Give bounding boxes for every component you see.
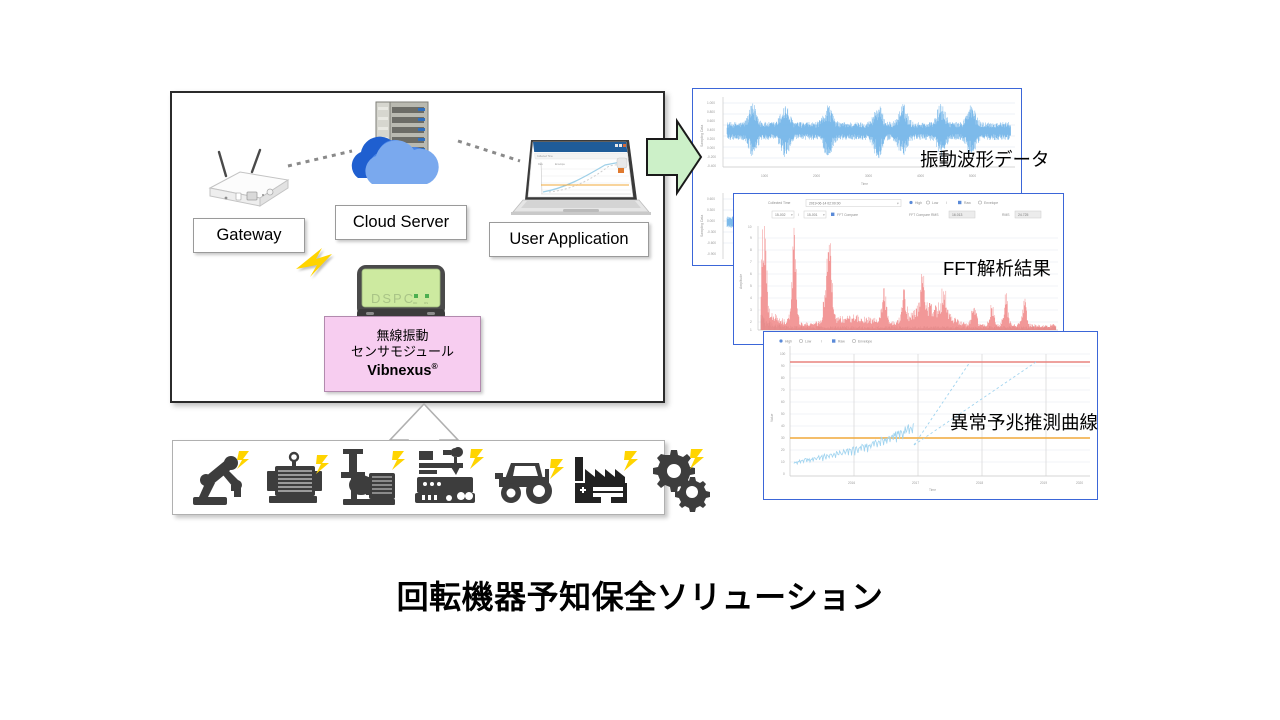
pump-icon [339,449,405,507]
svg-text:2: 2 [750,320,752,324]
robot-arm-icon [187,449,249,507]
svg-text:DSPC: DSPC [371,291,415,306]
svg-text:Collected Time: Collected Time [537,155,553,158]
svg-text:9: 9 [750,236,752,240]
svg-text:0.000: 0.000 [707,219,715,223]
svg-text:2020: 2020 [1076,481,1083,485]
svg-text:90: 90 [781,364,785,368]
vibnexus-line-1: 無線振動 [376,328,428,345]
svg-text:50: 50 [781,412,785,416]
svg-text:-0.300: -0.300 [707,230,716,234]
tractor-icon [493,449,565,507]
svg-text:40: 40 [781,424,785,428]
svg-text:Sampling Data: Sampling Data [700,215,704,237]
svg-text:Time: Time [861,182,868,186]
svg-text:0.300: 0.300 [707,208,715,212]
svg-text:2018: 2018 [976,481,983,485]
svg-text:/: / [946,201,947,205]
svg-text:Raw: Raw [964,201,971,205]
svg-text:▾: ▾ [897,202,899,206]
svg-text:High: High [785,339,792,343]
svg-text:Raw: Raw [538,163,543,166]
user-application-label: User Application [489,222,649,257]
vibnexus-brand: Vibnexus [367,363,431,379]
svg-text:15-002: 15-002 [775,213,786,217]
svg-text:5: 5 [750,284,752,288]
svg-text:30: 30 [781,436,785,440]
svg-text:FFT Compare: FFT Compare [837,213,858,217]
svg-text:High: High [915,201,922,205]
svg-text:0.000: 0.000 [707,146,715,150]
svg-text:0.600: 0.600 [707,197,715,201]
flow-arrow-right-icon [645,117,703,197]
laptop-icon: RawEnvelopeCollected Time [505,138,651,222]
gateway-label: Gateway [193,218,305,253]
svg-text:70: 70 [781,388,785,392]
svg-text:3000: 3000 [865,174,872,178]
svg-text:1: 1 [750,328,752,332]
svg-text:4: 4 [750,296,752,300]
svg-text:Raw: Raw [838,339,845,343]
svg-text:Amplitude: Amplitude [739,274,743,289]
svg-text:0.600: 0.600 [707,119,715,123]
svg-text:Time: Time [929,488,936,492]
svg-text:2019: 2019 [1040,481,1047,485]
svg-text:Envelope: Envelope [984,201,998,205]
svg-text:0.800: 0.800 [707,110,715,114]
svg-text:2016: 2016 [848,481,855,485]
svg-text:-0.600: -0.600 [707,241,716,245]
svg-text:5000: 5000 [969,174,976,178]
svg-text:RMS: RMS [1002,213,1010,217]
svg-text:2019-06-14 02:00:00: 2019-06-14 02:00:00 [809,202,841,206]
svg-text:7: 7 [750,260,752,264]
svg-text:2000: 2000 [813,174,820,178]
svg-text:8: 8 [750,248,752,252]
svg-text:20: 20 [781,448,785,452]
vibnexus-line-2: センサモジュール [351,344,454,361]
svg-text:6: 6 [750,272,752,276]
svg-text:Collected Time: Collected Time [768,201,791,205]
svg-text:0.400: 0.400 [707,128,715,132]
svg-text:Value: Value [770,413,774,422]
svg-text:24.725: 24.725 [1018,213,1028,217]
svg-text:80: 80 [781,376,785,380]
svg-text:/: / [821,339,822,343]
svg-text:/: / [798,213,799,217]
svg-text:RS: RS [424,301,428,305]
svg-text:4000: 4000 [917,174,924,178]
svg-text:-0.900: -0.900 [707,252,716,256]
vibnexus-label-box: 無線振動 センサモジュール Vibnexus® [324,316,481,392]
gears-icon [645,449,707,507]
svg-text:100: 100 [780,352,786,356]
svg-text:2017: 2017 [912,481,919,485]
chart-label-fft-analysis: FFT解析結果 [943,255,1051,281]
wireless-gateway-icon [202,146,298,216]
svg-text:0: 0 [783,472,785,476]
svg-text:3: 3 [750,308,752,312]
chart-label-vibration-waveform: 振動波形データ [920,146,1050,172]
cloud-server-label: Cloud Server [335,205,467,240]
slide-canvas: 1.0000.8000.600 0.4000.2000.000 -0.200-0… [0,0,1280,720]
electric-motor-icon [261,449,329,507]
svg-text:-0.400: -0.400 [707,164,716,168]
machine-tool-icon [413,449,485,507]
factory-icon [571,449,641,507]
svg-text:-0.200: -0.200 [707,155,716,159]
svg-text:16.013: 16.013 [952,213,962,217]
svg-text:▾: ▾ [791,213,793,217]
svg-text:Low: Low [805,339,812,343]
cloud-server-icon [340,100,464,205]
svg-text:▾: ▾ [823,213,825,217]
svg-text:Low: Low [932,201,939,205]
target-equipment-strip [172,440,665,515]
chart-label-anomaly-prediction: 異常予兆推測曲線 [950,409,1098,435]
page-title: 回転機器予知保全ソリューション [0,572,1280,618]
svg-text:Envelope: Envelope [555,163,566,166]
svg-text:FFT Compare RMS: FFT Compare RMS [909,213,939,217]
registered-trademark-icon: ® [431,361,437,371]
svg-text:1.000: 1.000 [707,101,715,105]
svg-text:15-001: 15-001 [807,213,818,217]
svg-text:Envelope: Envelope [858,339,872,343]
vibnexus-line-3: Vibnexus® [367,361,437,380]
svg-text:0.200: 0.200 [707,137,715,141]
svg-text:1000: 1000 [761,174,768,178]
svg-text:10: 10 [781,460,785,464]
svg-text:10: 10 [748,225,752,229]
svg-text:60: 60 [781,400,785,404]
